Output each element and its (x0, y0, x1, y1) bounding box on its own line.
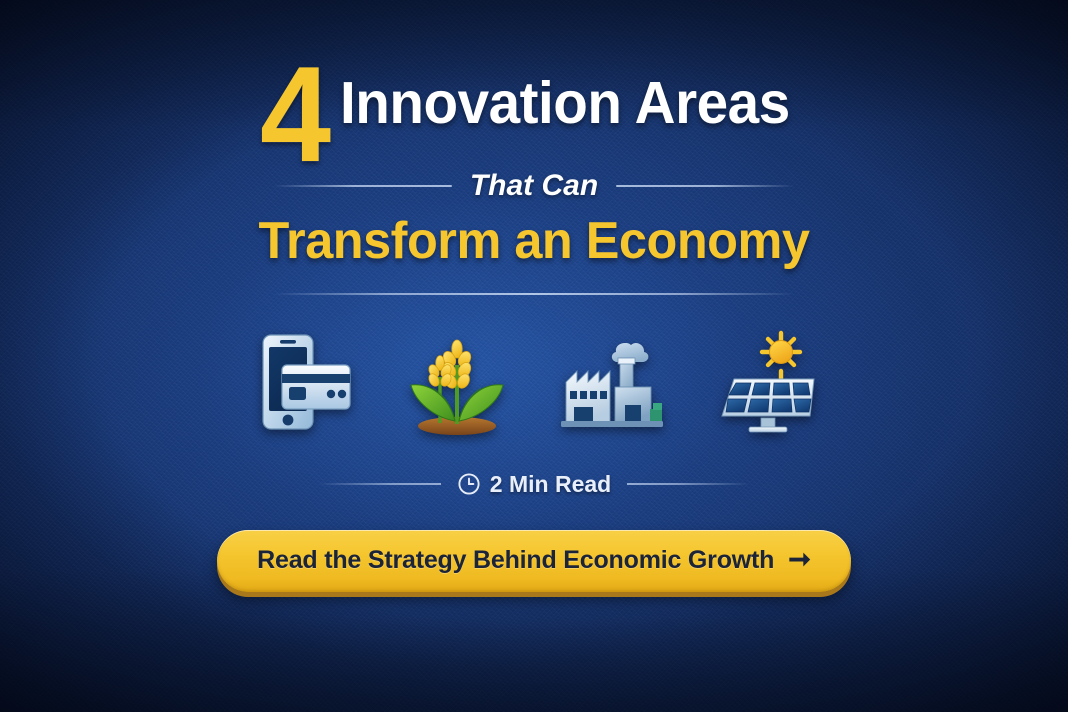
headline-row: 4 Innovation Areas (0, 64, 1068, 173)
factory-manufacturing-icon (557, 325, 665, 437)
read-strategy-button[interactable]: Read the Strategy Behind Economic Growth… (217, 530, 851, 592)
agriculture-wheat-icon (403, 325, 511, 437)
read-time-group: 2 Min Read (457, 471, 611, 498)
clock-icon (457, 472, 481, 496)
headline-bottom-divider (274, 293, 794, 295)
innovation-icons-row (249, 325, 819, 437)
read-time-row: 2 Min Read (319, 471, 749, 498)
mobile-payment-icon (249, 325, 357, 437)
page-title: Innovation Areas (340, 64, 790, 133)
headline-number: 4 (260, 60, 327, 169)
cta-label: Read the Strategy Behind Economic Growth (257, 546, 774, 575)
connector-rule: That Can (274, 169, 794, 203)
divider-line-right (616, 185, 794, 187)
read-time-divider-left (319, 483, 441, 485)
poster-content: 4 Innovation Areas That Can Transform an… (0, 0, 1068, 712)
read-time-label: 2 Min Read (490, 471, 611, 498)
poster-canvas: 4 Innovation Areas That Can Transform an… (0, 0, 1068, 712)
headline-subtitle: Transform an Economy (259, 211, 810, 271)
cta-container: Read the Strategy Behind Economic Growth… (217, 530, 851, 592)
read-time-divider-right (627, 483, 749, 485)
solar-panel-icon (711, 325, 819, 437)
headline-connector: That Can (470, 169, 598, 203)
arrow-right-icon: ➞ (788, 546, 811, 573)
